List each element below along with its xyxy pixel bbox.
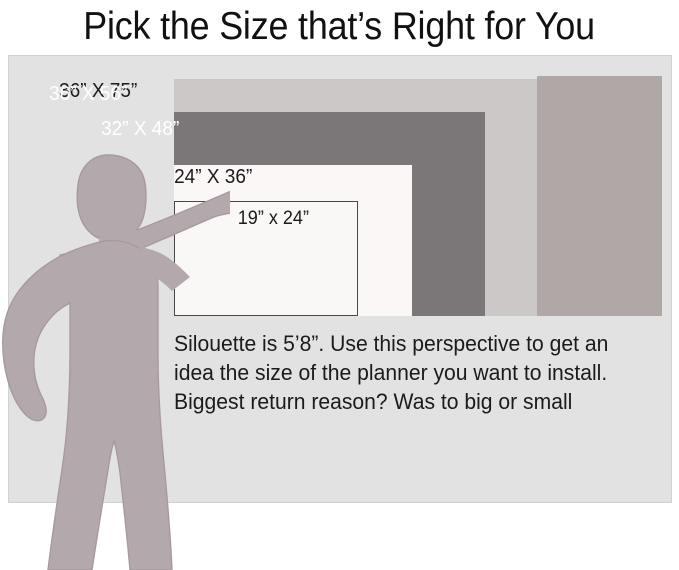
poster-root: Pick the Size that’s Right for You 36” X… [0, 0, 679, 570]
size-label-32x48: 32” X 48” [101, 118, 179, 140]
size-label-19x24: 19” x 24” [238, 208, 309, 230]
size-label-24x36: 24” X 36” [174, 166, 252, 188]
caption-line-1: Silouette is 5’8”. Use this perspective … [174, 329, 641, 358]
caption-line-2: idea the size of the planner you want to… [174, 358, 641, 387]
caption-line-3: Biggest return reason? Was to big or sma… [174, 387, 641, 416]
page-title: Pick the Size that’s Right for You [84, 6, 596, 48]
size-rect-36x75[interactable] [537, 76, 662, 316]
poster-title-bar: Pick the Size that’s Right for You [0, 0, 679, 53]
size-label-36x56: 36” X 56” [49, 83, 127, 105]
caption-block: Silouette is 5’8”. Use this perspective … [174, 329, 660, 416]
